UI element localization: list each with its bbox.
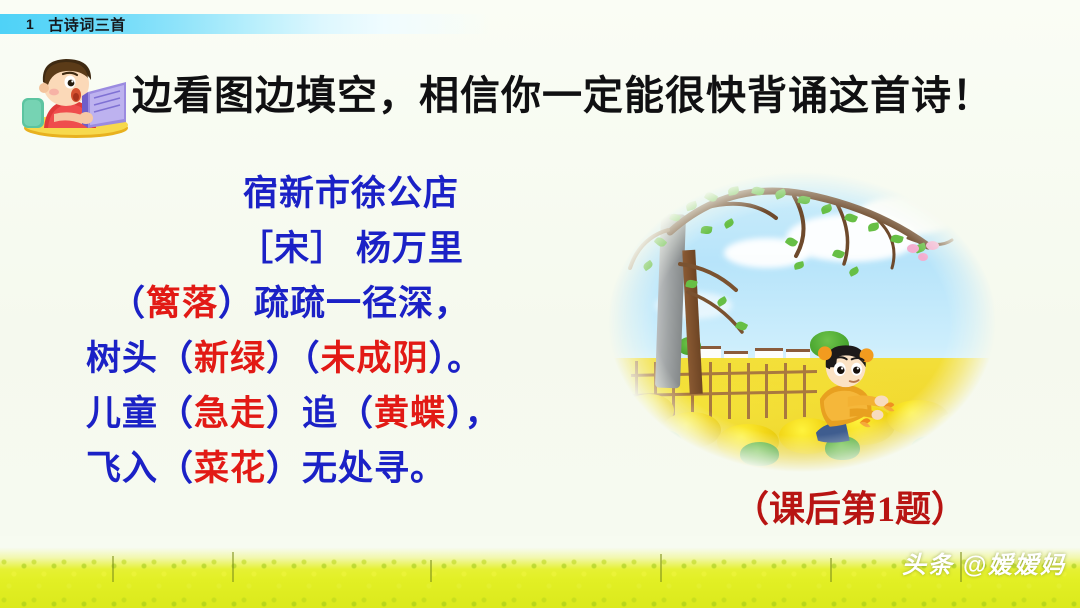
illustration-oval-mask — [608, 172, 996, 472]
poem-blank-answer: 篱落 — [146, 284, 218, 323]
poem-blank-answer: 未成阴 — [321, 339, 429, 378]
exercise-caption: （课后第1题） — [700, 480, 1000, 532]
reading-boy-icon — [14, 52, 136, 142]
poem-line-4: 飞入（菜花）无处寻。 — [78, 441, 608, 496]
poem-text: ）追（ — [266, 394, 374, 433]
poem-line-3: 儿童（急走）追（黄蝶）， — [78, 386, 608, 441]
butterfly-icon — [859, 418, 870, 427]
poem-blank-answer: 新绿 — [194, 339, 266, 378]
poem-text: ）。 — [429, 339, 484, 378]
poem-text: ）（ — [266, 339, 321, 378]
poem-text: 儿童（ — [86, 394, 194, 433]
poem-title: 宿新市徐公店 — [78, 166, 608, 221]
lesson-title: 古诗词三首 — [48, 14, 126, 35]
slide-canvas: 1 古诗词三首 — [0, 0, 1080, 608]
blossom-icon — [907, 244, 919, 253]
poem-text: ）无处寻。 — [266, 449, 446, 488]
breadcrumb: 1 古诗词三首 — [26, 13, 126, 35]
poem-text: ）疏疏一径深， — [218, 284, 470, 323]
poem-text: （ — [110, 284, 146, 323]
watermark: 头条 @嫒嫒妈 — [902, 545, 1066, 580]
poem-text: ）， — [446, 394, 501, 433]
poem-blank-answer: 急走 — [194, 394, 266, 433]
poem-blank-answer: 菜花 — [194, 449, 266, 488]
poem-author: ［宋］ 杨万里 — [78, 221, 608, 276]
poem-line-1: （篱落）疏疏一径深， — [78, 276, 608, 331]
poem-text: 树头（ — [86, 339, 194, 378]
poem-text: 飞入（ — [86, 449, 194, 488]
spring-scene-illustration — [608, 172, 996, 472]
lesson-number: 1 — [26, 16, 34, 32]
poem-block: 宿新市徐公店 ［宋］ 杨万里 （篱落）疏疏一径深， 树头（新绿）（未成阴）。 儿… — [78, 166, 608, 496]
child-catching-butterfly — [810, 337, 895, 457]
poem-line-2: 树头（新绿）（未成阴）。 — [78, 331, 608, 386]
page-title: 边看图边填空，相信你一定能很快背诵这首诗！ — [132, 63, 1032, 121]
poem-blank-answer: 黄蝶 — [374, 394, 446, 433]
